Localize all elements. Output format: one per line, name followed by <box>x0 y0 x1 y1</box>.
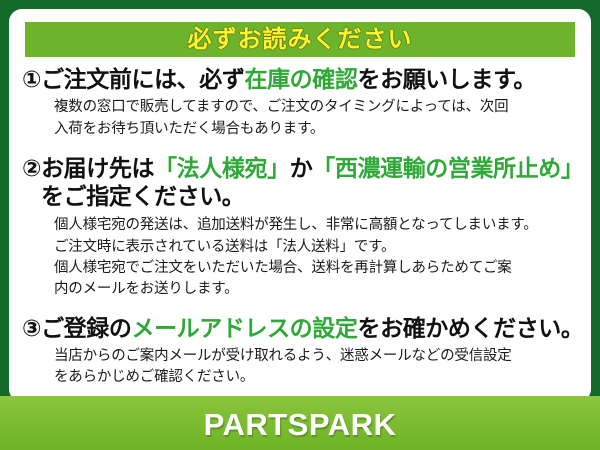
heading-segment: をお確かめください。 <box>358 316 584 342</box>
notice-list: ①ご注文前には、必ず在庫の確認をお願いします。 複数の窓口で販売してますので、ご… <box>9 66 591 389</box>
body-line: 入荷をお待ち頂いただく場合もあります。 <box>54 119 581 140</box>
notice-card: 必ずお読みください ①ご注文前には、必ず在庫の確認をお願いします。 複数の窓口で… <box>0 0 600 450</box>
heading-highlight: メールアドレスの設定 <box>131 316 357 342</box>
body-line: ご注文時に表示されている送料は「法人送料」です。 <box>54 237 581 258</box>
body-line: 内のメールをお送りします。 <box>54 279 581 300</box>
body-line: 当店からのご案内メールが受け取れるよう、迷惑メールなどの受信設定 <box>54 346 581 367</box>
heading-segment: をお願いします。 <box>358 67 537 93</box>
heading-segment: ①ご注文前には、必ず <box>22 67 244 93</box>
heading-line-2: をご指定ください。 <box>22 183 581 211</box>
notice-item-1-heading: ①ご注文前には、必ず在庫の確認をお願いします。 <box>22 66 581 94</box>
heading-segment: か <box>290 156 313 182</box>
heading-highlight: 在庫の確認 <box>244 67 357 93</box>
headline-banner: 必ずお読みください <box>25 22 575 57</box>
notice-item-3-body: 当店からのご案内メールが受け取れるよう、迷惑メールなどの受信設定 をあらかじめご… <box>22 346 581 389</box>
heading-segment: ③ご登録の <box>22 316 131 342</box>
notice-item-1-body: 複数の窓口で販売してますので、ご注文のタイミングによっては、次回 入荷をお待ち頂… <box>22 97 581 140</box>
notice-item-2-heading: ②お届け先は「法人様宛」か「西濃運輸の営業所止め」 をご指定ください。 <box>22 155 581 211</box>
notice-item-1: ①ご注文前には、必ず在庫の確認をお願いします。 複数の窓口で販売してますので、ご… <box>9 66 591 140</box>
white-content-panel: 必ずお読みください ①ご注文前には、必ず在庫の確認をお願いします。 複数の窓口で… <box>9 9 591 402</box>
notice-item-2: ②お届け先は「法人様宛」か「西濃運輸の営業所止め」 をご指定ください。 個人様宅… <box>9 155 591 301</box>
body-line: 個人様宅宛でご注文をいただいた場合、送料を再計算しあらためてご案 <box>54 258 581 279</box>
heading-highlight: 「西濃運輸の営業所止め」 <box>312 156 583 182</box>
body-line: 個人様宅宛の発送は、追加送料が発生し、非常に高額となってしまいます。 <box>54 215 581 236</box>
body-line: 複数の窓口で販売してますので、ご注文のタイミングによっては、次回 <box>54 97 581 118</box>
heading-segment: ②お届け先は <box>22 156 154 182</box>
heading-line-1: ②お届け先は「法人様宛」か「西濃運輸の営業所止め」 <box>22 155 581 183</box>
notice-item-3-heading: ③ご登録のメールアドレスの設定をお確かめください。 <box>22 315 581 343</box>
notice-item-3: ③ご登録のメールアドレスの設定をお確かめください。 当店からのご案内メールが受け… <box>9 315 591 389</box>
heading-highlight: 「法人様宛」 <box>154 156 290 182</box>
brand-wordmark: PARTSPARK <box>204 409 397 440</box>
notice-item-2-body: 個人様宅宛の発送は、追加送料が発生し、非常に高額となってしまいます。 ご注文時に… <box>22 215 581 301</box>
body-line: をあらかじめご確認ください。 <box>54 367 581 388</box>
headline-text: 必ずお読みください <box>188 27 413 51</box>
footer-brand-band: PARTSPARK <box>0 396 600 450</box>
